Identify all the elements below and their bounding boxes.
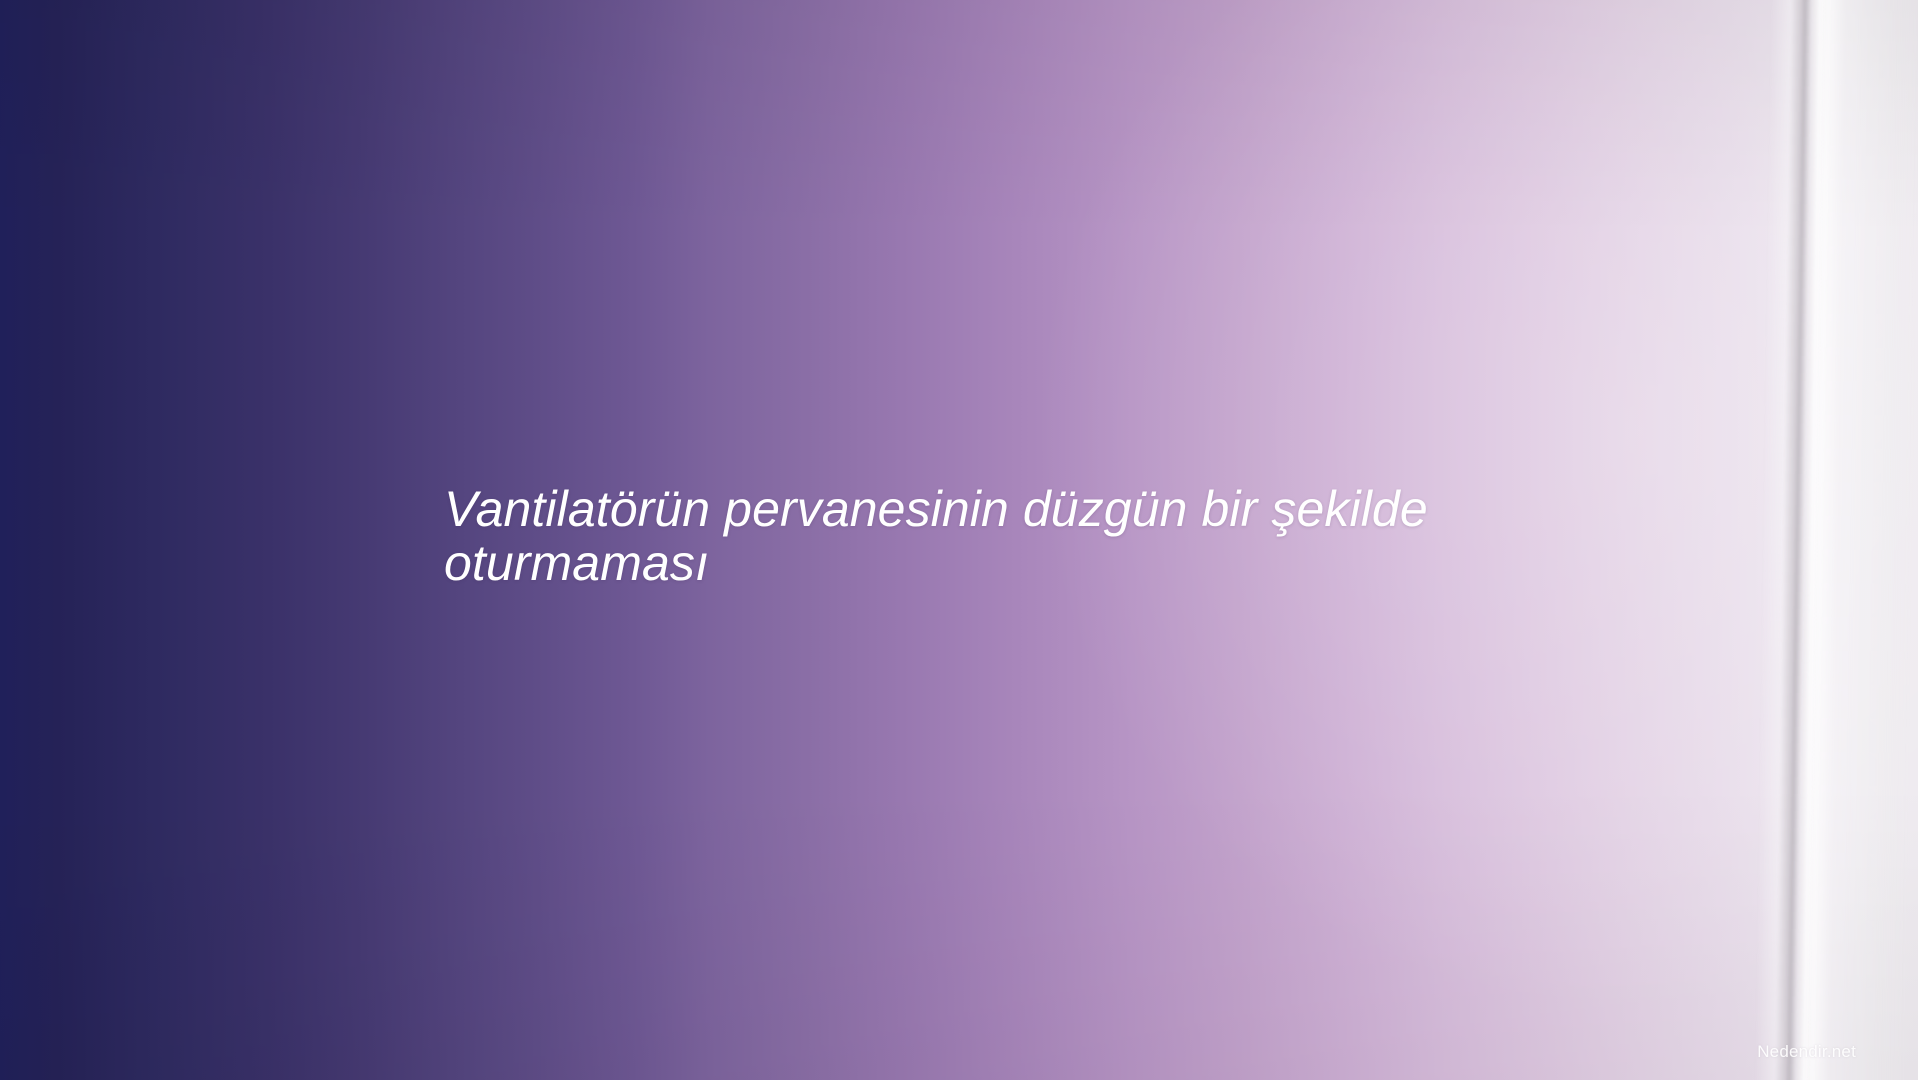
page-title: Vantilatörün pervanesinin düzgün bir şek… <box>444 482 1564 590</box>
watermark: Nedendir.net <box>1757 1043 1856 1060</box>
image-canvas: Vantilatörün pervanesinin düzgün bir şek… <box>0 0 1918 1080</box>
